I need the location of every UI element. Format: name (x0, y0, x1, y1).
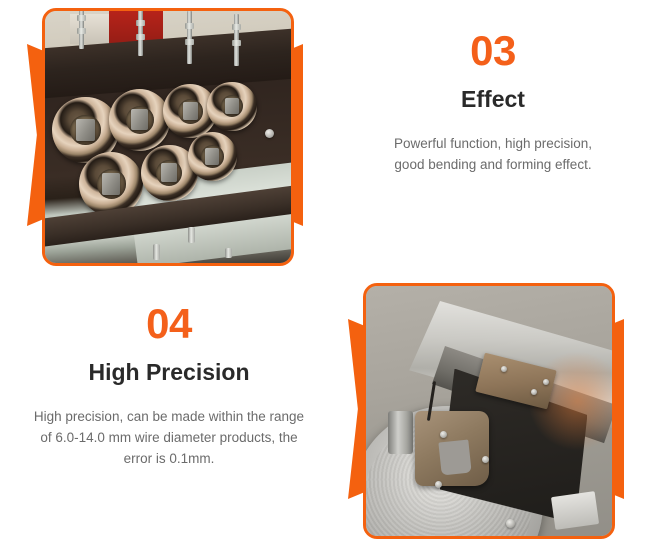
feature-title-03: Effect (348, 86, 638, 112)
bolt-icon (77, 11, 86, 49)
roller-bank-photo (45, 11, 291, 263)
feature-image-card-03 (27, 8, 303, 260)
feature-number-04: 04 (14, 303, 324, 345)
feature-showcase-page: 03 Effect Powerful function, high precis… (0, 0, 651, 542)
feature-description-04: High precision, can be made within the r… (14, 407, 324, 470)
bolt-icon (185, 11, 194, 64)
bending-head-photo (366, 286, 612, 536)
bolt-icon (232, 14, 241, 67)
bolt-icon (136, 11, 145, 56)
feature-image-card-04 (348, 283, 624, 533)
feature-text-03: 03 Effect Powerful function, high precis… (348, 30, 638, 176)
feature-photo-04 (363, 283, 615, 539)
feature-description-03: Powerful function, high precision, good … (348, 134, 638, 176)
feature-text-04: 04 High Precision High precision, can be… (14, 303, 324, 470)
feature-title-04: High Precision (14, 359, 324, 385)
feature-photo-03 (42, 8, 294, 266)
feature-number-03: 03 (348, 30, 638, 72)
